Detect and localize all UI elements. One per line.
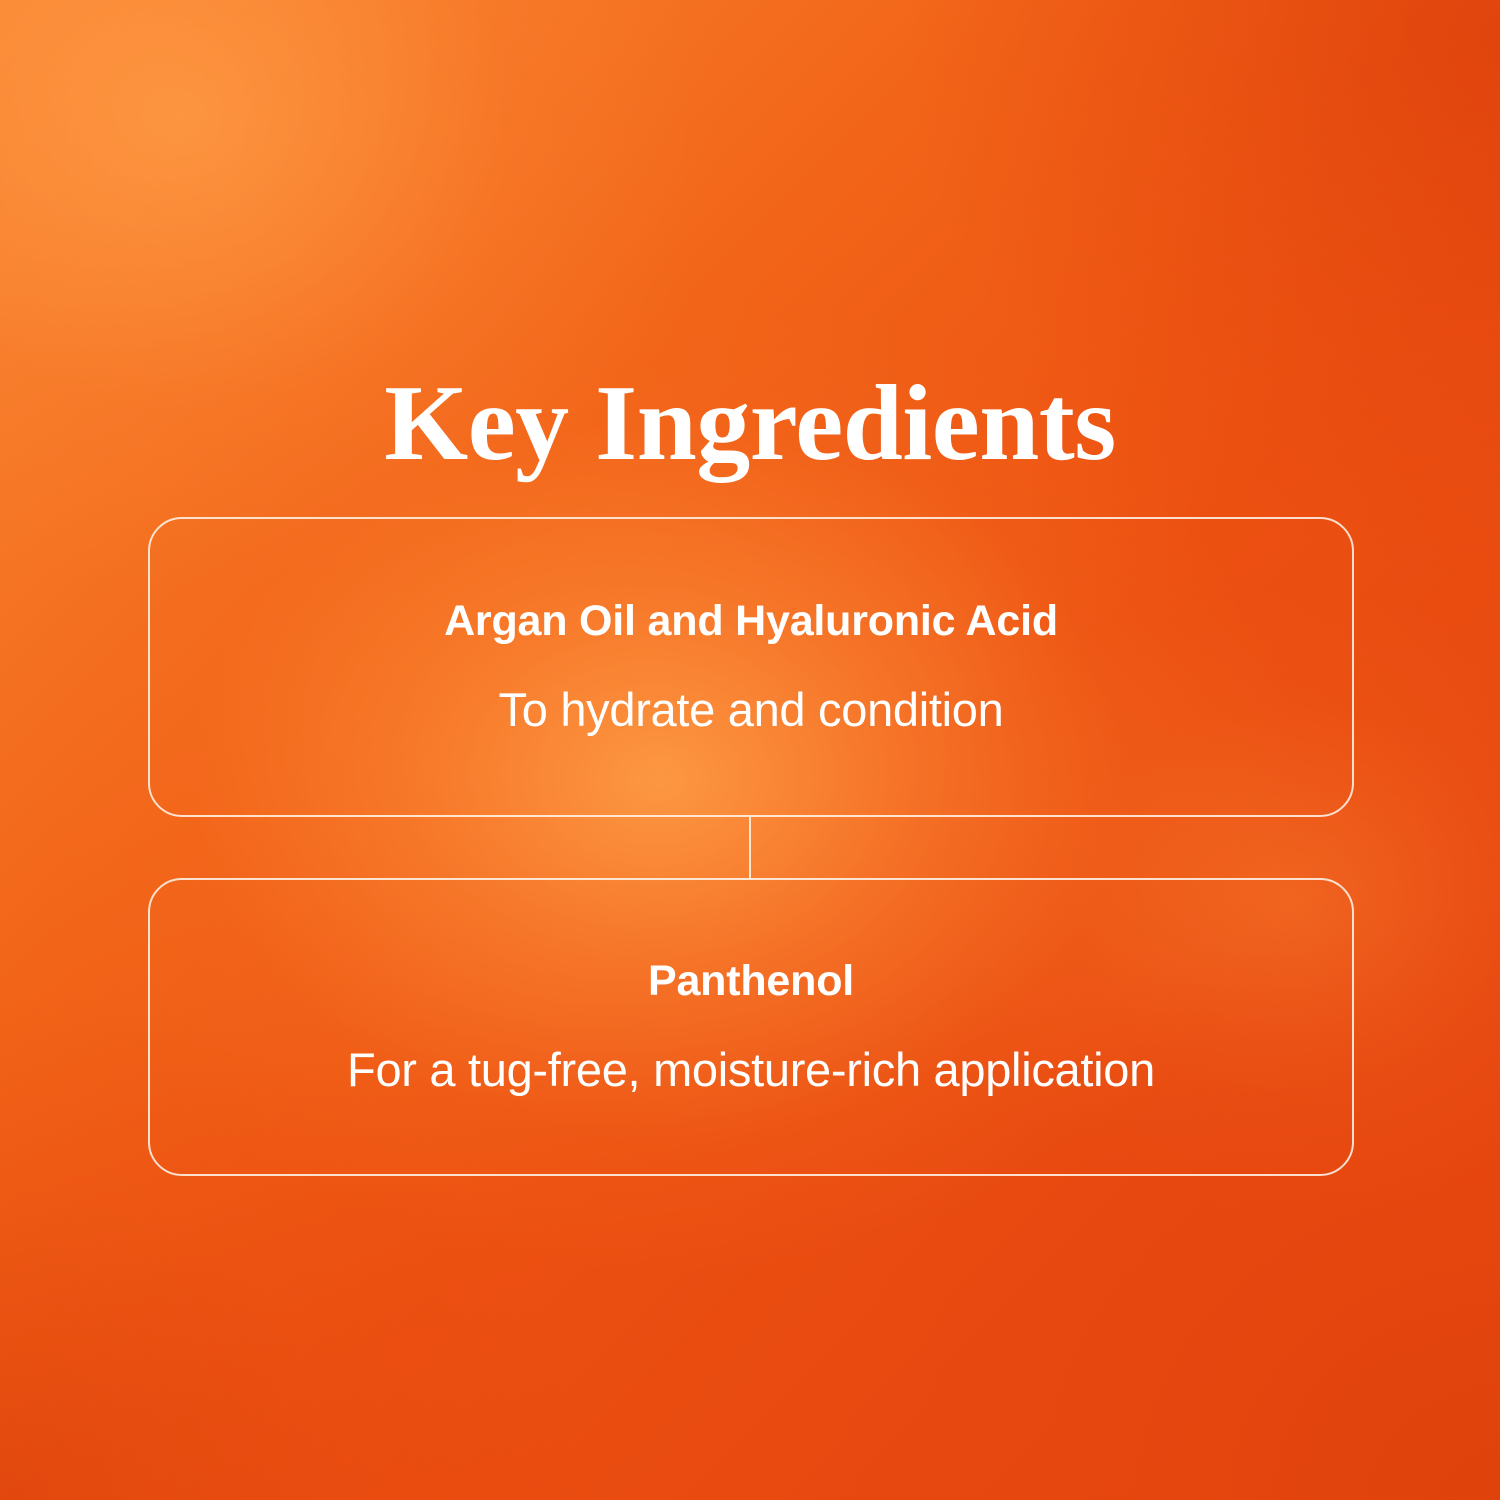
ingredient-card-heading: Panthenol xyxy=(648,956,854,1008)
ingredient-card-heading: Argan Oil and Hyaluronic Acid xyxy=(444,596,1058,648)
ingredient-card-subtext: For a tug-free, moisture-rich applicatio… xyxy=(347,1042,1155,1098)
ingredient-card-subtext: To hydrate and condition xyxy=(499,682,1004,738)
key-ingredients-infographic: Key Ingredients Argan Oil and Hyaluronic… xyxy=(0,0,1500,1500)
ingredient-card-argan-oil: Argan Oil and Hyaluronic Acid To hydrate… xyxy=(148,517,1354,817)
page-title: Key Ingredients xyxy=(0,367,1500,480)
card-connector-line xyxy=(749,817,751,879)
ingredient-card-panthenol: Panthenol For a tug-free, moisture-rich … xyxy=(148,878,1354,1176)
